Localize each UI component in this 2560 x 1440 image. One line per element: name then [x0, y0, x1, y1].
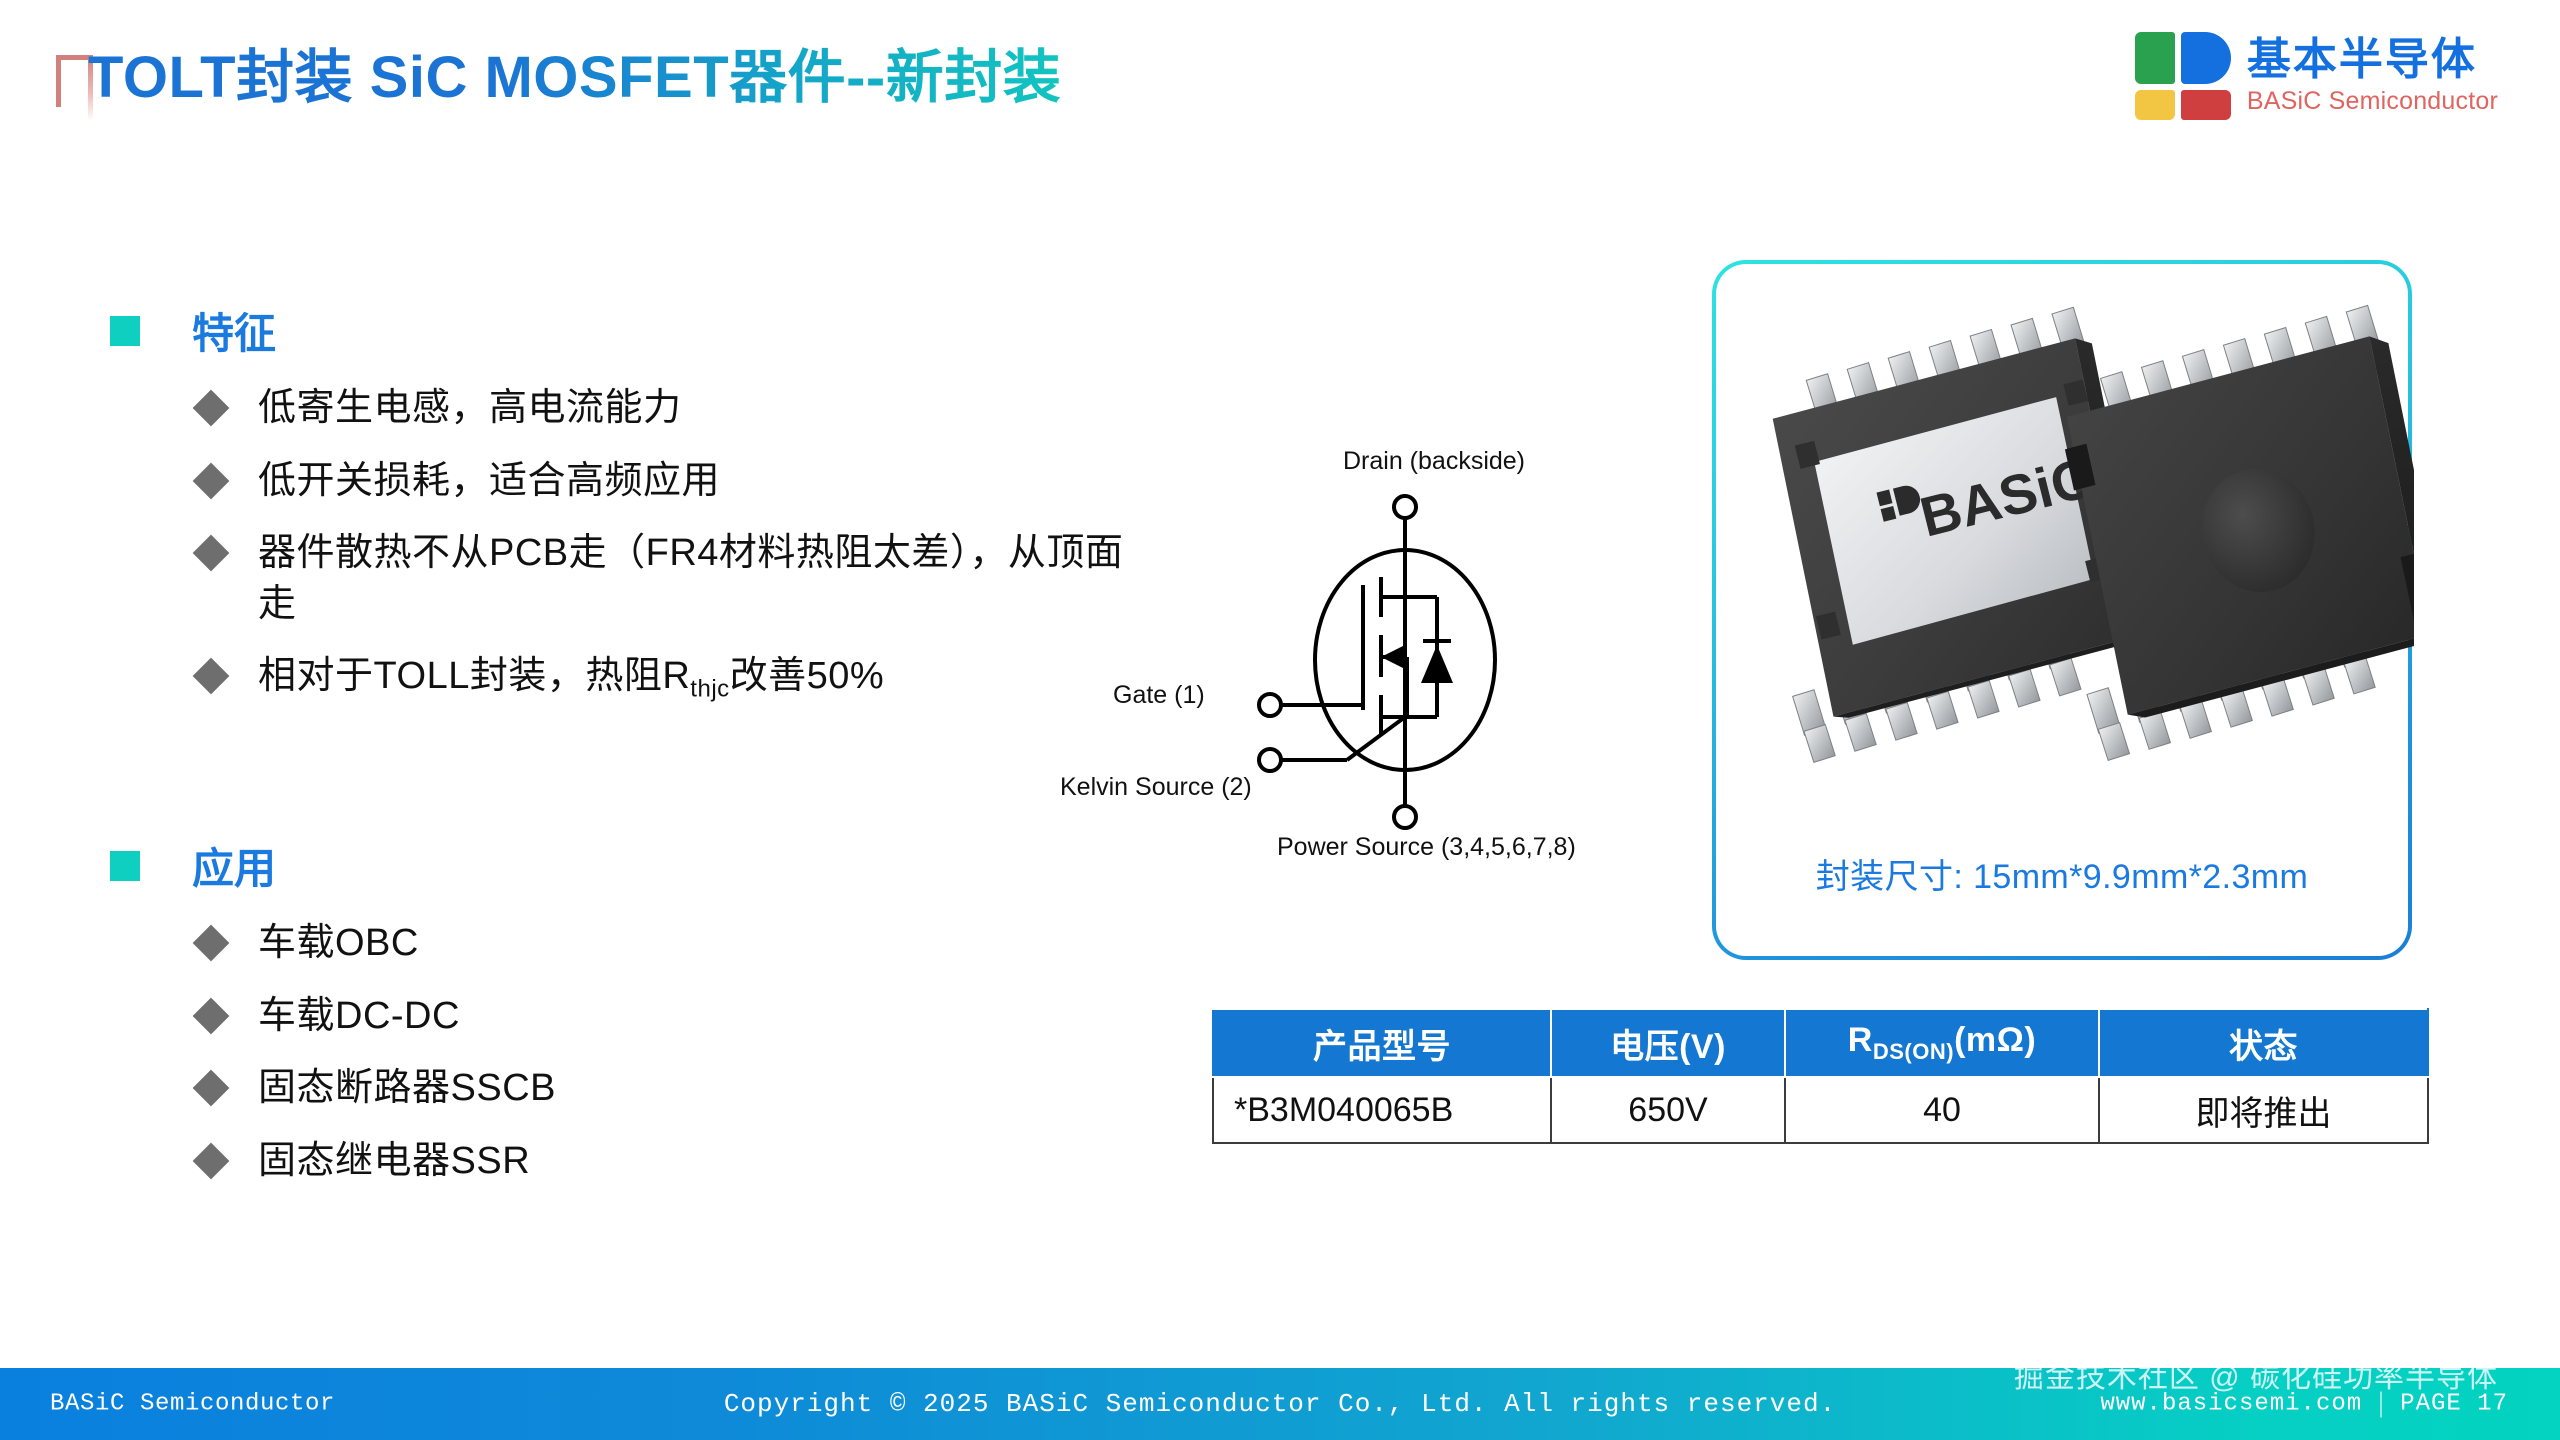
diamond-bullet-icon [193, 1070, 230, 1107]
diamond-bullet-icon [193, 535, 230, 572]
column-header-status: 状态 [2099, 1009, 2428, 1077]
schematic-kelvin-source-label: Kelvin Source (2) [1060, 773, 1252, 802]
schematic-drain-label: Drain (backside) [1343, 447, 1525, 476]
diamond-bullet-icon [193, 925, 230, 962]
column-header-model: 产品型号 [1213, 1009, 1551, 1077]
mosfet-schematic-diagram: Drain (backside) Gate (1) Kelvin Source … [1085, 455, 1725, 855]
feature-thermal-suffix: 改善50% [730, 655, 885, 697]
list-item: 车载DC-DC [110, 991, 1010, 1042]
page-footer: BASiC Semiconductor Copyright © 2025 BAS… [0, 1368, 2560, 1440]
rdson-subscript: DS(ON) [1873, 1039, 1954, 1064]
package-photo-panel: BASiC [1712, 260, 2412, 960]
column-header-voltage: 电压(V) [1551, 1009, 1785, 1077]
slide-root: TOLT封装 SiC MOSFET器件--新封装 基本半导体 BASiC Sem… [0, 0, 2560, 1440]
logo-block-green [2135, 32, 2175, 84]
features-section: 特征 低寄生电感，高电流能力 低开关损耗，适合高频应用 器件散热不从PCB走（F… [110, 300, 1130, 706]
column-header-rdson: RDS(ON)(mΩ) [1785, 1009, 2099, 1077]
logo-wordmark: 基本半导体 BASiC Semiconductor [2247, 38, 2498, 114]
schematic-power-source-label: Power Source (3,4,5,6,7,8) [1277, 833, 1576, 862]
logo-chinese-name: 基本半导体 [2247, 38, 2498, 82]
diamond-bullet-icon [193, 1142, 230, 1179]
logo-block-blue [2181, 32, 2231, 84]
feature-text: 低寄生电感，高电流能力 [258, 383, 682, 434]
square-bullet-icon [110, 316, 140, 346]
footer-copyright: Copyright © 2025 BASiC Semiconductor Co.… [724, 1389, 1836, 1419]
cell-voltage: 650V [1551, 1077, 1785, 1143]
applications-list: 车载OBC 车载DC-DC 固态断路器SSCB 固态继电器SSR [110, 918, 1010, 1186]
page-title: TOLT封装 SiC MOSFET器件--新封装 [88, 30, 1061, 114]
feature-thermal-prefix: 相对于TOLL封装，热阻R [258, 655, 690, 697]
diamond-bullet-icon [193, 997, 230, 1034]
schematic-gate-label: Gate (1) [1113, 681, 1205, 710]
rdson-base: R [1848, 1021, 1873, 1059]
logo-english-name: BASiC Semiconductor [2247, 89, 2498, 114]
list-item: 低开关损耗，适合高频应用 [110, 456, 1130, 507]
footer-brand: BASiC Semiconductor [50, 1391, 335, 1418]
table-row: *B3M040065B 650V 40 即将推出 [1213, 1077, 2428, 1143]
diamond-bullet-icon [193, 462, 230, 499]
features-list: 低寄生电感，高电流能力 低开关损耗，适合高频应用 器件散热不从PCB走（FR4材… [110, 383, 1130, 706]
cell-rdson: 40 [1785, 1077, 2099, 1143]
cell-model: *B3M040065B [1213, 1077, 1551, 1143]
square-bullet-icon [110, 851, 140, 881]
logo-mark-icon [2135, 32, 2231, 120]
feature-text-thermal: 相对于TOLL封装，热阻Rthjc改善50% [258, 651, 884, 706]
feature-thermal-subscript: thjc [690, 676, 729, 703]
list-item: 相对于TOLL封装，热阻Rthjc改善50% [110, 651, 1130, 706]
list-item: 固态继电器SSR [110, 1136, 1010, 1187]
feature-text: 器件散热不从PCB走（FR4材料热阻太差），从顶面走 [258, 528, 1130, 629]
list-item: 器件散热不从PCB走（FR4材料热阻太差），从顶面走 [110, 528, 1130, 629]
list-item: 低寄生电感，高电流能力 [110, 383, 1130, 434]
package-render-stage: BASiC [1714, 280, 2414, 840]
applications-heading-row: 应用 [110, 835, 1010, 896]
rdson-unit: (mΩ) [1954, 1021, 2036, 1059]
applications-section: 应用 车载OBC 车载DC-DC 固态断路器SSCB 固态继电器SSR [110, 835, 1010, 1186]
footer-watermark: 掘金技术社区 @ 碳化硅功率半导体 [2014, 1352, 2498, 1396]
application-text: 固态断路器SSCB [258, 1063, 556, 1114]
cell-status: 即将推出 [2099, 1077, 2428, 1143]
features-heading-row: 特征 [110, 300, 1130, 361]
product-spec-table: 产品型号 电压(V) RDS(ON)(mΩ) 状态 *B3M040065B 65… [1212, 1008, 2429, 1144]
diamond-bullet-icon [193, 390, 230, 427]
feature-text: 低开关损耗，适合高频应用 [258, 456, 720, 507]
application-text: 固态继电器SSR [258, 1136, 530, 1187]
applications-heading: 应用 [192, 835, 276, 896]
application-text: 车载DC-DC [258, 991, 460, 1042]
package-size-caption: 封装尺寸: 15mm*9.9mm*2.3mm [1714, 849, 2410, 898]
logo-block-yellow [2135, 90, 2175, 120]
features-heading: 特征 [192, 300, 276, 361]
list-item: 固态断路器SSCB [110, 1063, 1010, 1114]
title-corner-decoration [56, 55, 90, 107]
logo-block-red [2181, 90, 2231, 120]
diamond-bullet-icon [193, 658, 230, 695]
brand-logo: 基本半导体 BASiC Semiconductor [2135, 32, 2498, 120]
table-header-row: 产品型号 电压(V) RDS(ON)(mΩ) 状态 [1213, 1009, 2428, 1077]
list-item: 车载OBC [110, 918, 1010, 969]
tolt-package-illustration-icon: BASiC [1714, 280, 2414, 840]
application-text: 车载OBC [258, 918, 419, 969]
